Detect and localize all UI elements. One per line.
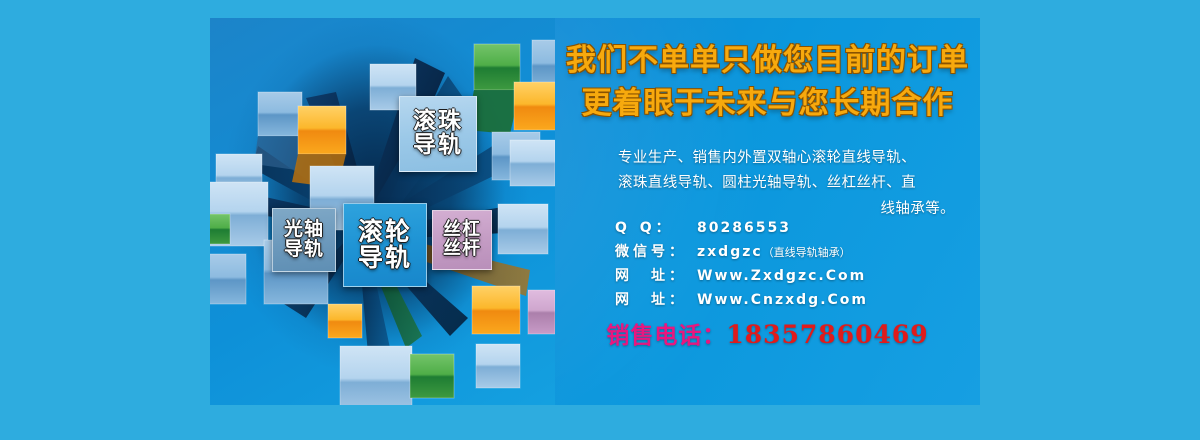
cube-orange-right: [514, 82, 555, 130]
headline-line-1: 我们不单单只做您目前的订单: [555, 40, 980, 83]
wechat-value[interactable]: zxdgzc: [697, 240, 763, 264]
description: 专业生产、销售内外置双轴心滚轮直线导轨、 滚珠直线导轨、圆柱光轴导轨、丝杠丝杆、…: [563, 146, 971, 222]
banner-panel: 滚珠 导轨 光轴 导轨 滚轮 导轨 丝杠 丝杆 我们不单单只做您目前的订单 更着…: [210, 18, 980, 405]
cube-lower-green: [410, 354, 454, 398]
cube-right-mid-blue: [498, 204, 548, 254]
sales-phone-number[interactable]: 18357860469: [726, 320, 928, 349]
contact-block: Q Q： 80286553 微信号： zxdgzc （直线导轨轴承） 网 址： …: [615, 216, 975, 312]
qq-value[interactable]: 80286553: [697, 216, 791, 240]
cube-lower-blue-big: [340, 346, 412, 405]
cube-lower-right-orange: [472, 286, 520, 334]
cube-burst-graphic: 滚珠 导轨 光轴 导轨 滚轮 导轨 丝杠 丝杆: [210, 18, 555, 405]
contact-row-wechat: 微信号： zxdgzc （直线导轨轴承）: [615, 240, 975, 264]
website-2-value[interactable]: Www.Cnzxdg.Com: [697, 288, 868, 312]
cube-lower-left-blue: [210, 254, 246, 304]
product-label-ball-guide[interactable]: 滚珠 导轨: [399, 96, 477, 172]
contact-row-website-2: 网 址： Www.Cnzxdg.Com: [615, 288, 975, 312]
product-label-screw[interactable]: 丝杠 丝杆: [432, 210, 492, 270]
cube-far-right-blue: [510, 140, 555, 186]
cube-lower-right-blue: [476, 344, 520, 388]
promo-banner: 滚珠 导轨 光轴 导轨 滚轮 导轨 丝杠 丝杆 我们不单单只做您目前的订单 更着…: [0, 0, 1200, 440]
website-2-label: 网 址：: [615, 288, 697, 312]
screw-line2: 丝杆: [443, 240, 481, 259]
headline: 我们不单单只做您目前的订单 更着眼于未来与您长期合作: [555, 40, 980, 125]
contact-row-website-1: 网 址： Www.Zxdgzc.Com: [615, 264, 975, 288]
wechat-note: （直线导轨轴承）: [763, 244, 851, 263]
product-label-roller-guide[interactable]: 滚轮 导轨: [343, 203, 427, 287]
ball-guide-line2: 导轨: [413, 134, 463, 158]
qq-label: Q Q：: [615, 216, 697, 240]
website-1-label: 网 址：: [615, 264, 697, 288]
shaft-guide-line2: 导轨: [284, 240, 324, 260]
description-line-2: 滚珠直线导轨、圆柱光轴导轨、丝杠丝杆、直: [563, 171, 971, 196]
website-1-value[interactable]: Www.Zxdgzc.Com: [697, 264, 866, 288]
roller-guide-line1: 滚轮: [358, 219, 412, 245]
ball-guide-line1: 滚珠: [413, 110, 463, 134]
banner-content: 我们不单单只做您目前的订单 更着眼于未来与您长期合作 专业生产、销售内外置双轴心…: [555, 18, 980, 405]
sales-phone[interactable]: 销售电话：18357860469: [555, 316, 980, 350]
description-line-1: 专业生产、销售内外置双轴心滚轮直线导轨、: [563, 146, 971, 171]
roller-guide-line2: 导轨: [358, 245, 412, 271]
cube-bottom-left-green: [210, 214, 230, 244]
cube-lower-orange-small: [328, 304, 362, 338]
wechat-label: 微信号：: [615, 240, 697, 264]
headline-line-2: 更着眼于未来与您长期合作: [555, 83, 980, 126]
cube-right-pink: [528, 290, 555, 334]
sales-phone-label: 销售电话：: [606, 323, 726, 349]
contact-row-qq: Q Q： 80286553: [615, 216, 975, 240]
product-label-shaft-guide[interactable]: 光轴 导轨: [272, 208, 336, 272]
